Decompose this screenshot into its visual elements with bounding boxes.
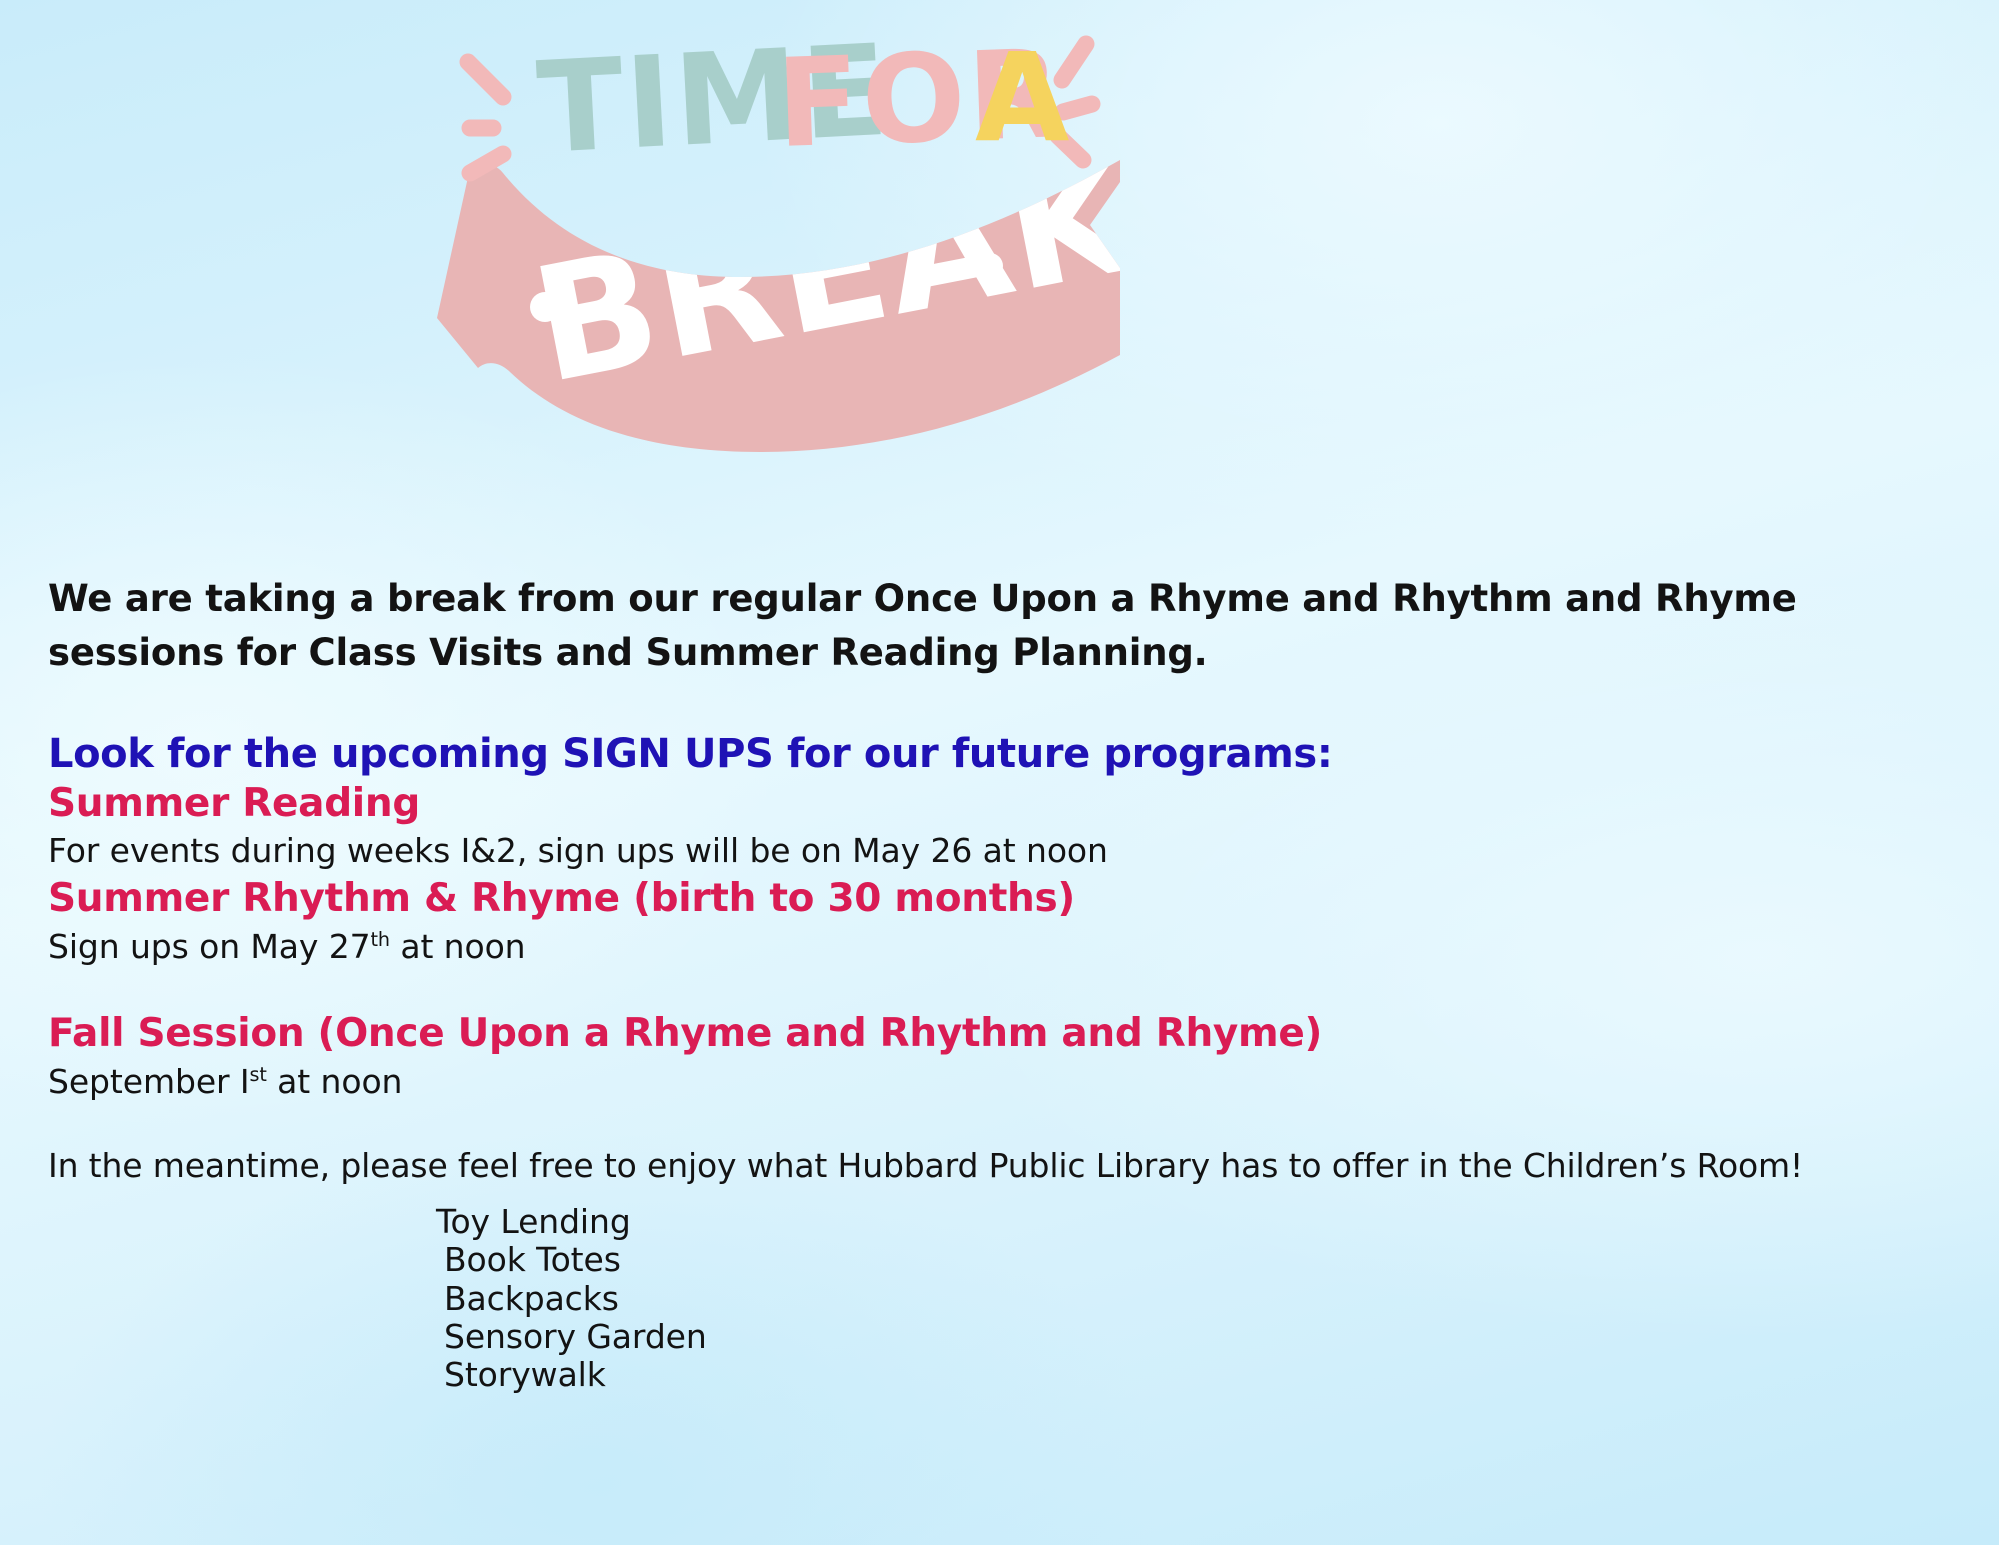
program-detail-summer-reading: For events during weeks I&2, sign ups wi… [48, 829, 1958, 874]
list-item: Storywalk [436, 1356, 1958, 1394]
flyer-content: We are taking a break from our regular O… [48, 572, 1958, 1394]
detail-text: September I [48, 1062, 250, 1101]
program-detail-summer-rhythm-rhyme: Sign ups on May 27th at noon [48, 925, 1958, 970]
sparkle-lines-left-icon [468, 62, 503, 173]
program-title-summer-reading: Summer Reading [48, 779, 1958, 830]
detail-text: For events during weeks I&2, sign ups wi… [48, 831, 1108, 870]
spacer [48, 969, 1958, 1009]
spacer [48, 681, 1958, 729]
list-item: Backpacks [436, 1280, 1958, 1318]
program-title-summer-rhythm-rhyme: Summer Rhythm & Rhyme (birth to 30 month… [48, 874, 1958, 925]
banner-dot-right [977, 253, 1003, 279]
detail-text: Sign ups on May 27 [48, 927, 371, 966]
program-detail-fall-session: September Ist at noon [48, 1060, 1958, 1105]
intro-paragraph: We are taking a break from our regular O… [48, 572, 1928, 681]
spacer [48, 1104, 1958, 1144]
list-item: Toy Lending [436, 1203, 1958, 1241]
list-item: Sensory Garden [436, 1318, 1958, 1356]
header-artwork: TIME FOR A BREAK [0, 0, 1999, 460]
detail-text-tail: at noon [267, 1062, 403, 1101]
list-item: Book Totes [436, 1241, 1958, 1279]
detail-ordinal-suffix: th [371, 928, 390, 951]
banner-dot-left [530, 292, 560, 322]
signups-heading: Look for the upcoming SIGN UPS for our f… [48, 729, 1958, 779]
closing-paragraph: In the meantime, please feel free to enj… [48, 1144, 1958, 1189]
offerings-list: Toy Lending Book Totes Backpacks Sensory… [48, 1203, 1958, 1394]
detail-text-tail: at noon [390, 927, 526, 966]
detail-ordinal-suffix: st [250, 1063, 267, 1086]
program-title-fall-session: Fall Session (Once Upon a Rhyme and Rhyt… [48, 1009, 1958, 1060]
title-word-a: A [975, 27, 1071, 169]
